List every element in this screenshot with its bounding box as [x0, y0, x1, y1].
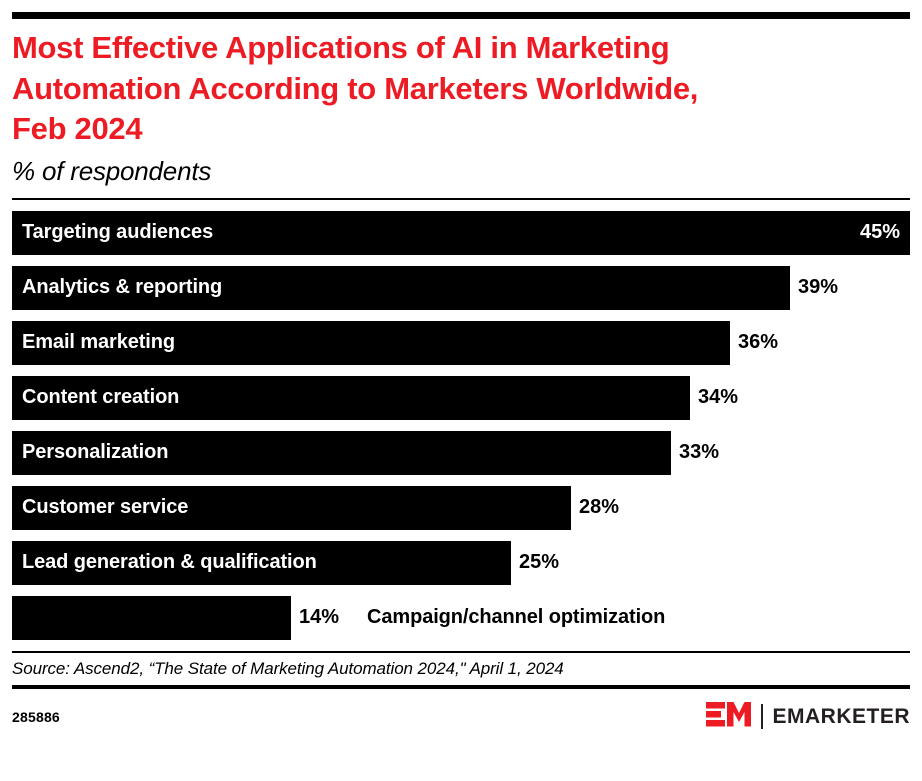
source-rule-bottom: [12, 685, 910, 689]
bar-row: Content creation34%: [12, 376, 910, 420]
bar-row: Lead generation & qualification25%: [12, 541, 910, 585]
bar-row: Email marketing36%: [12, 321, 910, 365]
brand-divider: [761, 704, 763, 729]
bar: Personalization: [12, 431, 671, 475]
bar: Customer service: [12, 486, 571, 530]
bar-row: Personalization33%: [12, 431, 910, 475]
bar: Lead generation & qualification: [12, 541, 511, 585]
em-logo-icon: [706, 701, 752, 733]
brand-name: EMARKETER: [772, 705, 910, 729]
bar-chart-plot: Targeting audiences45%Analytics & report…: [12, 211, 910, 640]
bar-label: Targeting audiences: [12, 221, 213, 244]
bar-label: Analytics & reporting: [12, 276, 222, 299]
bar-label: Email marketing: [12, 331, 175, 354]
header-rule-top: [12, 12, 910, 19]
bar: Content creation: [12, 376, 690, 420]
bar-value: 25%: [511, 551, 559, 574]
bar-row: Targeting audiences45%: [12, 211, 910, 255]
bar-value: 45%: [860, 221, 910, 244]
chart-id: 285886: [12, 709, 60, 725]
chart-subtitle: % of respondents: [12, 156, 910, 187]
bar-row: Customer service28%: [12, 486, 910, 530]
bar-label: Personalization: [12, 441, 168, 464]
bar-value: 28%: [571, 496, 619, 519]
bar-label: Content creation: [12, 386, 179, 409]
bar: Analytics & reporting: [12, 266, 790, 310]
bar-value: 14%: [291, 606, 339, 629]
bar-value: 33%: [671, 441, 719, 464]
chart-card: Most Effective Applications of AI in Mar…: [0, 12, 922, 781]
bar-value: 36%: [730, 331, 778, 354]
bar-label: Lead generation & qualification: [12, 551, 317, 574]
bar-row: 14%Campaign/channel optimization: [12, 596, 910, 640]
bar: Targeting audiences45%: [12, 211, 910, 255]
page-title: Most Effective Applications of AI in Mar…: [12, 28, 910, 150]
source-note: Source: Ascend2, “The State of Marketing…: [12, 653, 910, 685]
header-rule-bottom: [12, 198, 910, 200]
bar: [12, 596, 291, 640]
bar-row: Analytics & reporting39%: [12, 266, 910, 310]
bar-value: 34%: [690, 386, 738, 409]
bar-label: Customer service: [12, 496, 188, 519]
bar-value: 39%: [790, 276, 838, 299]
footer-bar: 285886 EMARKETER: [12, 701, 910, 733]
bar-label: Campaign/channel optimization: [339, 606, 665, 629]
bar: Email marketing: [12, 321, 730, 365]
brand-lockup: EMARKETER: [706, 701, 910, 733]
